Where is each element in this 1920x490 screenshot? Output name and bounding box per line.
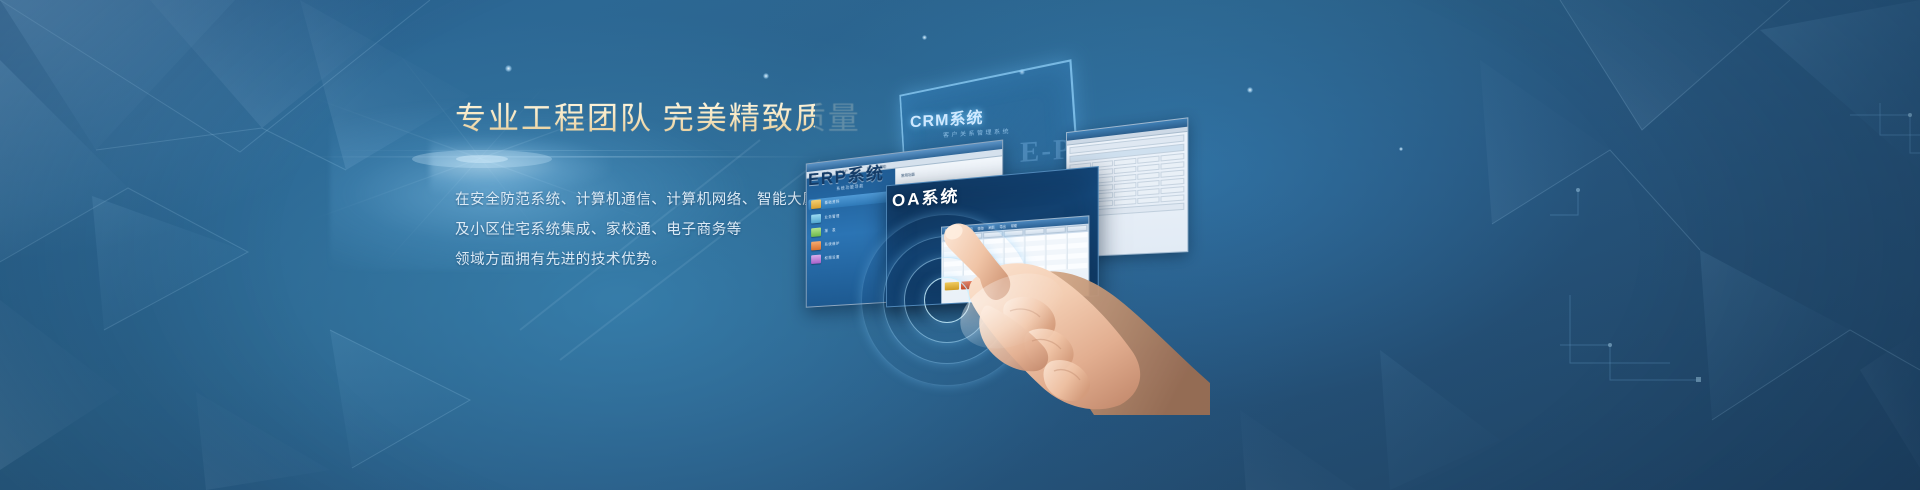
grid-cell bbox=[1161, 186, 1184, 194]
report-icon bbox=[811, 227, 821, 237]
circuit-traces bbox=[1550, 95, 1920, 395]
grid-cell bbox=[1114, 174, 1136, 182]
document-icon bbox=[811, 214, 821, 224]
grid-cell bbox=[1137, 164, 1160, 172]
erp-nav-label: 系统维护 bbox=[825, 241, 840, 247]
grid-cell bbox=[1161, 170, 1184, 178]
erp-nav-label: 报 表 bbox=[825, 228, 836, 234]
pointing-hand-illustration bbox=[880, 215, 1210, 415]
glow-dot bbox=[505, 65, 512, 72]
erp-nav-label: 权限设置 bbox=[825, 255, 840, 261]
grid-cell bbox=[1114, 158, 1136, 166]
grid-cell bbox=[1114, 198, 1136, 206]
lock-icon bbox=[811, 255, 821, 264]
folder-icon bbox=[811, 199, 821, 209]
grid-cell bbox=[1114, 182, 1136, 190]
grid-cell bbox=[1137, 180, 1160, 188]
erp-nav-label: 基础资料 bbox=[825, 199, 840, 205]
erp-nav-label: 业务管理 bbox=[825, 214, 840, 220]
crm-watermark-large: E-P bbox=[1020, 133, 1073, 170]
hero-banner: 专业工程团队 完美精致质量 在安全防范系统、计算机通信、计算机网络、智能大厦 及… bbox=[0, 0, 1920, 490]
grid-cell bbox=[1137, 188, 1160, 196]
grid-cell bbox=[1114, 166, 1136, 174]
grid-cell bbox=[1161, 194, 1184, 202]
wrench-icon bbox=[811, 241, 821, 251]
grid-cell bbox=[1161, 153, 1184, 162]
glow-dot bbox=[1399, 147, 1403, 151]
grid-cell bbox=[1137, 196, 1160, 204]
grid-cell bbox=[1114, 190, 1136, 198]
grid-cell bbox=[1161, 178, 1184, 186]
grid-cell bbox=[1161, 161, 1184, 169]
grid-cell bbox=[1137, 172, 1160, 180]
grid-cell bbox=[1137, 155, 1160, 163]
